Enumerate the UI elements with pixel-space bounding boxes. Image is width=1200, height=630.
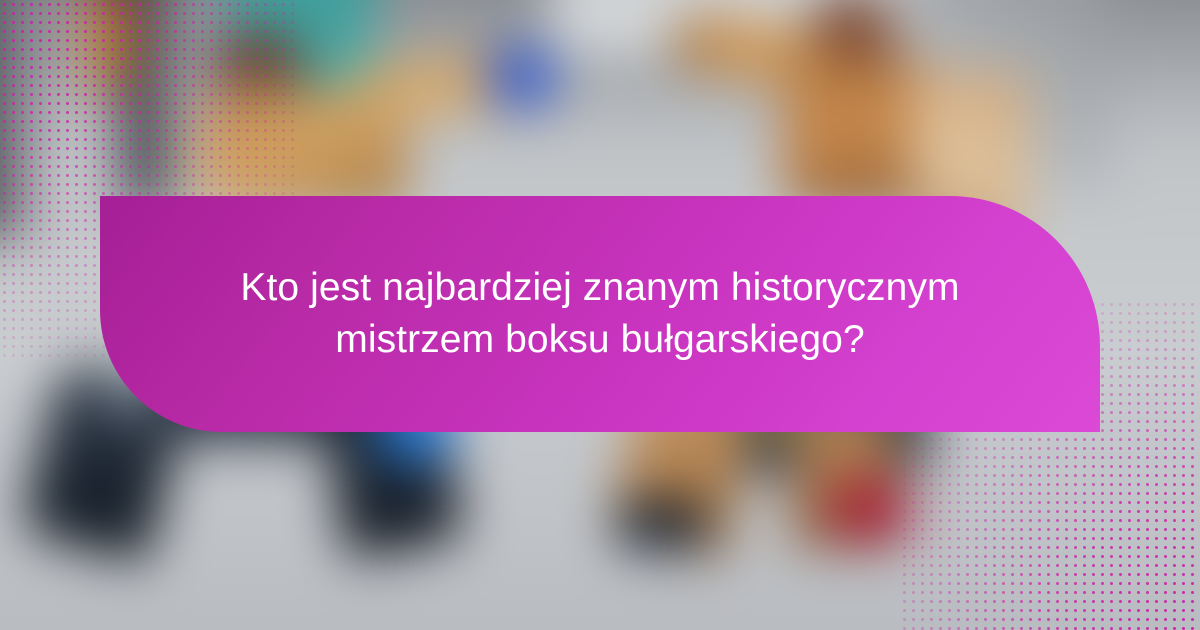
social-share-card: Kto jest najbardziej znanym historycznym… [0,0,1200,630]
door-frame-left [0,0,30,240]
right-fighter-red-equipment [832,480,910,542]
left-fighter-glove [486,46,558,110]
headline-line-1: Kto jest najbardziej znanym historycznym [240,262,959,314]
headline-banner: Kto jest najbardziej znanym historycznym… [100,196,1100,432]
fire-extinguisher [88,0,130,95]
headline-line-2: mistrzem boksu bułgarskiego? [335,314,865,366]
right-fighter-foot [616,498,706,550]
